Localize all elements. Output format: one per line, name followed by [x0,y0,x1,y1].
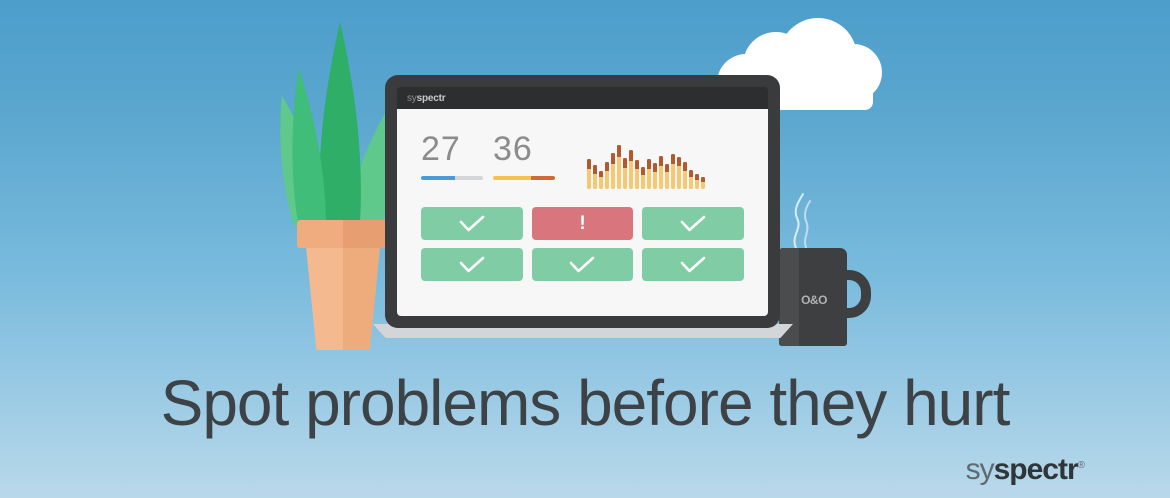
metrics-row: 27 36 [421,131,744,193]
sparkline-bar-cap [665,164,669,172]
coffee-mug-illustration: O&O [779,248,871,346]
dashboard-screen: 27 36 ! [397,109,768,316]
sparkline-bar-cap [689,170,693,177]
sparkline-bar [641,167,645,189]
check-icon [459,215,485,233]
sparkline-bar [593,165,597,189]
sparkline-bar [617,145,621,189]
sparkline-bar-cap [629,150,633,161]
sparkline-bar [587,159,591,189]
brand-logo-trademark: ® [1078,460,1084,471]
brand-logo-strong: spectr [994,453,1078,486]
metric-memory-bar [493,176,555,180]
sparkline-bar [623,158,627,189]
sparkline-bar [659,156,663,189]
brand-logo-prefix: sy [966,453,994,486]
sparkline-bar-cap [671,154,675,164]
exclamation-icon: ! [579,214,585,233]
sparkline-bar-cap [593,165,597,174]
metric-memory-value: 36 [493,131,565,167]
metric-cpu-bar-track [455,176,483,180]
sparkline-bar [635,160,639,189]
sparkline-bar-cap [587,159,591,169]
sparkline-bar-cap [647,159,651,169]
metric-cpu[interactable]: 27 [421,131,493,180]
cloud-puff [825,44,882,101]
pot-body-shade [343,247,380,350]
metric-cpu-bar-fill [421,176,455,180]
sparkline-bar-cap [605,162,609,171]
sparkline-bar [629,150,633,189]
status-tile-3[interactable] [642,207,744,240]
sparkline-bar [611,153,615,189]
sparkline-bar [653,163,657,189]
sparkline-bar [689,170,693,189]
metric-memory[interactable]: 36 [493,131,565,180]
sparkline-bar-cap [653,163,657,172]
plant-pot [297,220,389,350]
status-tile-4[interactable] [421,248,523,281]
sparkline-bar-cap [683,162,687,171]
sparkline-bar [599,171,603,189]
brand-logo: syspectr® [966,450,1084,486]
sparkline-bar [647,159,651,189]
check-icon [459,256,485,274]
laptop-illustration: syspectr 27 36 [385,75,785,350]
status-tile-5[interactable] [532,248,634,281]
sparkline-bar-cap [623,158,627,168]
sparkline-bar-cap [599,171,603,177]
sparkline-bar-cap [611,153,615,164]
sparkline-bar-cap [695,174,699,180]
app-title-logo-prefix: sy [407,93,417,104]
sparkline-bar [665,164,669,189]
metric-cpu-value: 27 [421,131,493,167]
mug-logo-text: O&O [785,293,843,307]
status-tile-2[interactable]: ! [532,207,634,240]
sparkline-bar-cap [659,156,663,166]
check-icon [680,256,706,274]
sparkline-bar-cap [677,157,681,166]
sparkline-bar [671,154,675,189]
activity-sparkline[interactable] [587,131,705,189]
app-title-logo: syspectr [407,93,445,104]
check-icon [569,256,595,274]
sparkline-bar [695,174,699,189]
app-title-bar: syspectr [397,87,768,109]
app-title-logo-suffix: spectr [417,93,446,104]
poster-canvas: O&O syspectr 27 36 [0,0,1170,498]
check-icon [680,215,706,233]
metric-memory-bar-secondary [531,176,555,180]
sparkline-bar [701,177,705,189]
metric-cpu-bar [421,176,483,180]
status-tile-grid: ! [421,207,744,281]
sparkline-bar [605,162,609,189]
sparkline-bar [677,157,681,189]
status-tile-6[interactable] [642,248,744,281]
metric-memory-bar-fill [493,176,531,180]
sparkline-bar [683,162,687,189]
sparkline-bar-cap [635,160,639,169]
page-title: Spot problems before they hurt [0,366,1170,440]
status-tile-1[interactable] [421,207,523,240]
sparkline-bar-cap [617,145,621,157]
pot-rim-shade [343,220,389,248]
sparkline-bar-cap [701,177,705,182]
sparkline-bar-cap [641,167,645,175]
